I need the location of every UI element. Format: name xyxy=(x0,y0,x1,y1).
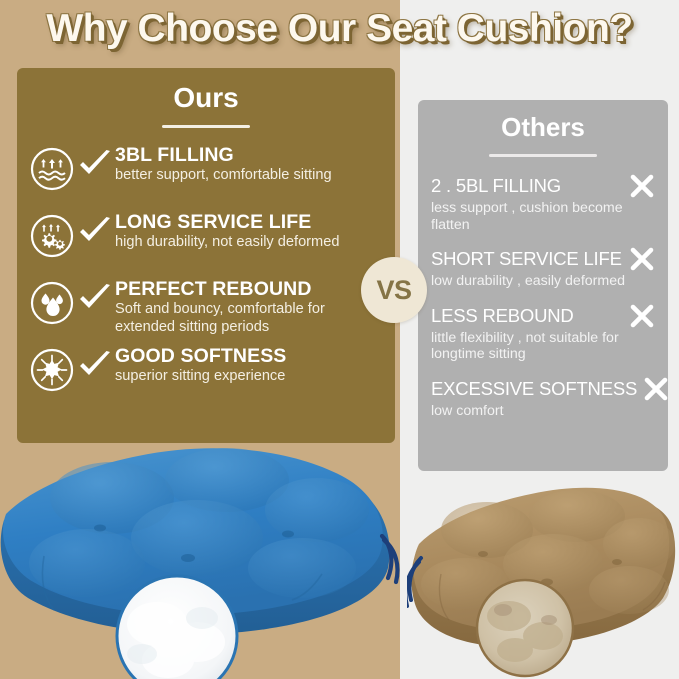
others-feature-subtitle: little flexibility , not suitable for lo… xyxy=(431,330,655,363)
gears-icon xyxy=(29,213,75,259)
others-feature-row: EXCESSIVE SOFTNESS low comfort xyxy=(431,376,655,420)
check-icon xyxy=(77,283,113,315)
cross-icon xyxy=(643,376,669,402)
others-feature-subtitle: less support , cushion become flatten xyxy=(431,200,655,233)
cross-icon xyxy=(629,303,655,329)
check-icon xyxy=(77,149,113,181)
ours-feature-subtitle: Soft and bouncy, comfortable for extende… xyxy=(115,301,385,336)
blue-cushion-image xyxy=(0,428,402,679)
others-feature-title: SHORT SERVICE LIFE xyxy=(431,248,622,270)
check-icon xyxy=(77,216,113,248)
ours-heading-divider xyxy=(162,125,250,128)
others-feature-title: LESS REBOUND xyxy=(431,305,574,327)
cross-icon xyxy=(629,173,655,199)
page-title: Why Choose Our Seat Cushion? xyxy=(0,4,679,56)
others-heading: Others xyxy=(418,100,668,143)
ours-feature-row: GOOD SOFTNESS superior sitting experienc… xyxy=(17,345,395,403)
others-feature-subtitle: low comfort xyxy=(431,403,655,420)
check-icon xyxy=(77,350,113,382)
ours-feature-subtitle: high durability, not easily deformed xyxy=(115,234,385,252)
infographic-canvas: Why Choose Our Seat Cushion? Ours xyxy=(0,0,679,679)
ours-feature-title: LONG SERVICE LIFE xyxy=(115,211,311,233)
water-droplets-icon xyxy=(29,280,75,326)
others-feature-title: EXCESSIVE SOFTNESS xyxy=(431,378,637,400)
ours-feature-title: 3BL FILLING xyxy=(115,144,234,166)
ours-feature-title: GOOD SOFTNESS xyxy=(115,345,286,367)
ours-feature-row: PERFECT REBOUND Soft and bouncy, comfort… xyxy=(17,278,395,336)
ours-feature-row: 3BL FILLING better support, comfortable … xyxy=(17,144,395,202)
ours-heading: Ours xyxy=(17,68,395,114)
ours-feature-row: LONG SERVICE LIFE high durability, not e… xyxy=(17,211,395,269)
others-feature-row: SHORT SERVICE LIFE low durability , easi… xyxy=(431,246,655,290)
ours-feature-subtitle: superior sitting experience xyxy=(115,368,385,386)
softness-burst-icon xyxy=(29,347,75,393)
ours-feature-subtitle: better support, comfortable sitting xyxy=(115,167,385,185)
ours-panel: Ours xyxy=(17,68,395,443)
others-feature-row: 2 . 5BL FILLING less support , cushion b… xyxy=(431,173,655,233)
ours-feature-title: PERFECT REBOUND xyxy=(115,278,312,300)
others-feature-title: 2 . 5BL FILLING xyxy=(431,175,561,197)
others-feature-subtitle: low durability , easily deformed xyxy=(431,273,655,290)
filling-waves-icon xyxy=(29,146,75,192)
brown-cushion-image xyxy=(407,470,679,679)
others-feature-row: LESS REBOUND little flexibility , not su… xyxy=(431,303,655,363)
cross-icon xyxy=(629,246,655,272)
vs-badge: VS xyxy=(361,257,427,323)
ours-feature-list: 3BL FILLING better support, comfortable … xyxy=(17,144,395,403)
others-feature-list: 2 . 5BL FILLING less support , cushion b… xyxy=(418,173,668,420)
others-panel: Others 2 . 5BL FILLING less support , cu… xyxy=(418,100,668,471)
others-heading-divider xyxy=(489,154,597,157)
